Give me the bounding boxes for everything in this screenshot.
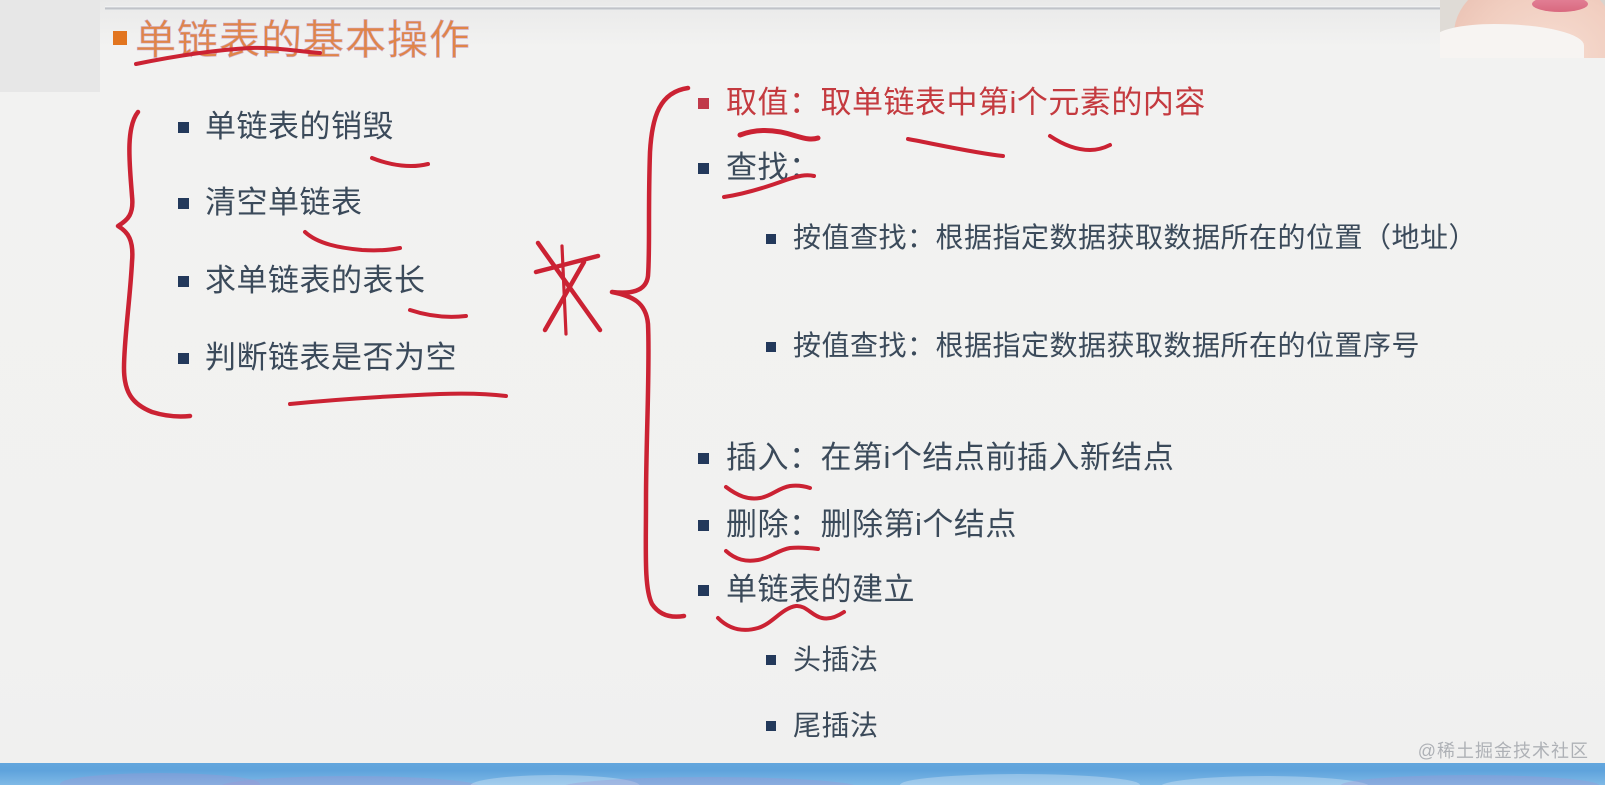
left-list-item-3: 判断链表是否为空 [205, 339, 457, 377]
webcam-overlay [1440, 0, 1605, 58]
slide-left-gutter [0, 0, 100, 92]
title-bullet-icon [113, 31, 127, 45]
build-subitem-bullet-icon-1 [766, 721, 776, 731]
slide-screenshot: 单链表的基本操作 单链表的销毁 清空单链表 求单链表的表长 判断链表是否为空 取… [0, 0, 1605, 785]
find-subitem-bullet-icon-1 [766, 342, 776, 352]
left-item-bullet-icon-3 [178, 353, 189, 364]
right-list-item-3: 删除：删除第i个结点 [726, 506, 1017, 544]
footer-wave-5 [1160, 776, 1370, 785]
build-subitem-1: 尾插法 [793, 705, 879, 747]
slide-top-divider [105, 6, 1443, 10]
right-item-bullet-icon-2 [698, 453, 709, 464]
right-list-item-2: 插入：在第i个结点前插入新结点 [726, 439, 1174, 477]
community-watermark: @稀土掘金技术社区 [1418, 737, 1589, 763]
left-list-item-0: 单链表的销毁 [205, 108, 394, 146]
footer-wave-1 [220, 776, 480, 785]
find-subitem-bullet-icon-0 [766, 234, 776, 244]
right-item-bullet-icon-4 [698, 585, 709, 596]
find-subitem-0: 按值查找：根据指定数据获取数据所在的位置（地址） [793, 216, 1533, 260]
right-item-bullet-icon-1 [698, 163, 709, 174]
find-subitem-1: 按值查找：根据指定数据获取数据所在的位置序号 [793, 324, 1533, 368]
right-list-item-4: 单链表的建立 [726, 571, 915, 609]
build-subitem-0: 头插法 [793, 639, 879, 681]
right-list-item-0: 取值：取单链表中第i个元素的内容 [726, 84, 1206, 122]
slide-footer-band [0, 763, 1605, 785]
footer-wave-6 [1340, 775, 1600, 785]
left-item-bullet-icon-1 [178, 198, 189, 209]
left-item-bullet-icon-0 [178, 122, 189, 133]
footer-wave-4 [900, 774, 1140, 785]
right-item-bullet-icon-3 [698, 520, 709, 531]
left-list-item-1: 清空单链表 [205, 184, 363, 222]
left-list-item-2: 求单链表的表长 [205, 262, 426, 300]
page-title: 单链表的基本操作 [135, 16, 471, 64]
right-item-bullet-icon-0 [698, 98, 709, 109]
right-list-item-1: 查找： [726, 149, 821, 187]
build-subitem-bullet-icon-0 [766, 655, 776, 665]
left-item-bullet-icon-2 [178, 276, 189, 287]
